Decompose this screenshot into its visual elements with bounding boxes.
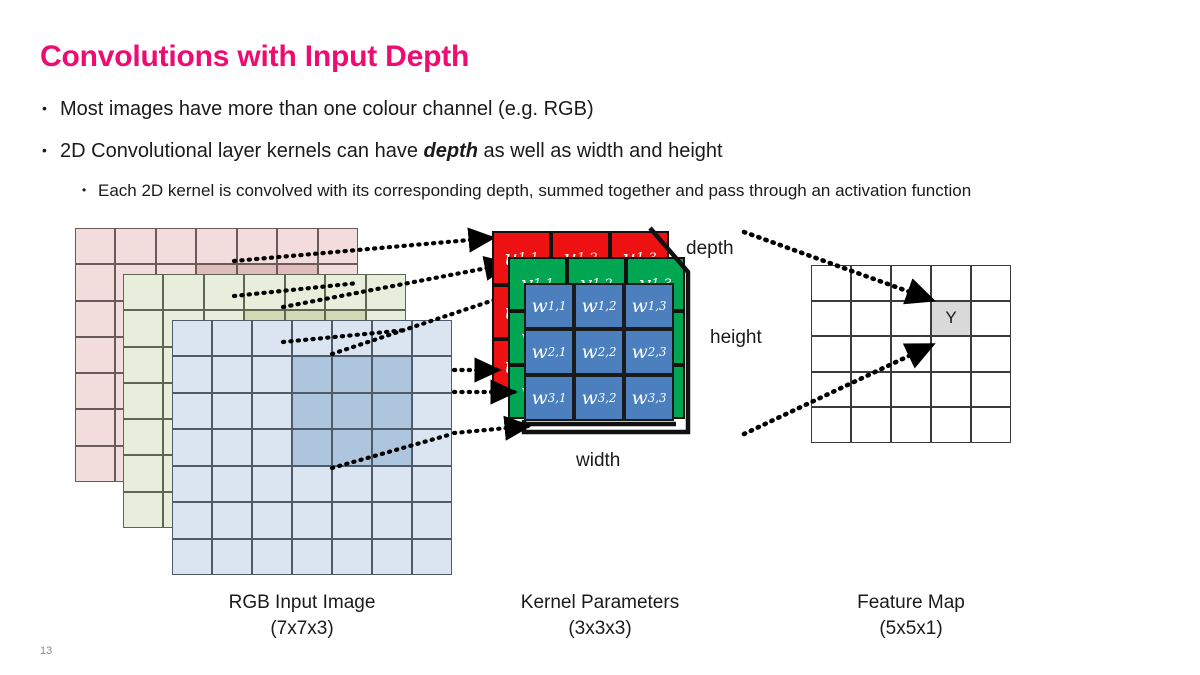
input-cell — [412, 393, 452, 429]
input-cell — [372, 466, 412, 502]
input-cell — [212, 320, 252, 356]
kernel-cell-w-2-1: w2,1 — [524, 329, 574, 375]
input-cell — [212, 466, 252, 502]
feature-map-cell — [811, 336, 851, 372]
input-cell — [212, 356, 252, 392]
input-cell — [252, 356, 292, 392]
input-cell — [332, 539, 372, 575]
feature-map-cell — [931, 407, 971, 443]
input-cell — [172, 502, 212, 538]
input-cell — [212, 502, 252, 538]
input-cell-highlighted — [292, 393, 332, 429]
kernel-cell-w-1-3: w1,3 — [624, 283, 674, 329]
bullet-item-1: Most images have more than one colour ch… — [38, 96, 1168, 122]
feature-map-cell — [931, 372, 971, 408]
input-cell — [366, 274, 406, 310]
feature-map-cell — [971, 407, 1011, 443]
input-cell — [123, 419, 163, 455]
feature-map-cell — [971, 336, 1011, 372]
feature-map-cell — [811, 407, 851, 443]
input-cell — [412, 502, 452, 538]
feature-map-cell — [931, 265, 971, 301]
caption-fmap-line2: (5x5x1) — [791, 616, 1031, 642]
input-cell — [75, 264, 115, 300]
input-cell — [172, 429, 212, 465]
input-cell — [237, 228, 277, 264]
feature-map-cell — [971, 301, 1011, 337]
input-cell — [212, 539, 252, 575]
input-cell — [75, 337, 115, 373]
input-cell — [75, 228, 115, 264]
feature-map-cell — [971, 372, 1011, 408]
input-cell-highlighted — [372, 429, 412, 465]
input-cell — [172, 356, 212, 392]
bullet-text-1: Most images have more than one colour ch… — [60, 98, 594, 120]
input-cell-highlighted — [372, 393, 412, 429]
bullet-list: Most images have more than one colour ch… — [38, 96, 1168, 202]
input-cell — [252, 466, 292, 502]
input-cell — [212, 429, 252, 465]
bullet-emphasis-depth: depth — [424, 140, 478, 162]
input-cell — [172, 466, 212, 502]
input-cell — [123, 455, 163, 491]
input-cell — [252, 502, 292, 538]
input-cell — [196, 228, 236, 264]
input-plane-blue — [172, 320, 452, 575]
feature-map-cell — [851, 265, 891, 301]
input-cell — [412, 356, 452, 392]
input-cell — [285, 274, 325, 310]
input-cell — [292, 320, 332, 356]
input-cell — [172, 393, 212, 429]
feature-map-cell — [931, 336, 971, 372]
input-cell — [318, 228, 358, 264]
slide-canvas: Convolutions with Input Depth Most image… — [0, 0, 1200, 675]
caption-fmap-line1: Feature Map — [791, 590, 1031, 616]
kernel-cell-w-3-2: w3,2 — [574, 375, 624, 421]
input-cell — [75, 409, 115, 445]
bullet-item-3: Each 2D kernel is convolved with its cor… — [38, 180, 1168, 202]
label-depth: depth — [686, 238, 734, 260]
input-cell — [75, 446, 115, 482]
input-cell — [252, 393, 292, 429]
kernel-cell-w-2-2: w2,2 — [574, 329, 624, 375]
input-cell-highlighted — [332, 393, 372, 429]
input-cell — [252, 429, 292, 465]
input-cell — [372, 502, 412, 538]
input-cell — [412, 466, 452, 502]
feature-map-cell — [891, 265, 931, 301]
kernel-cell-w-2-3: w2,3 — [624, 329, 674, 375]
input-cell — [332, 502, 372, 538]
caption-kernel-line2: (3x3x3) — [480, 616, 720, 642]
input-cell — [123, 383, 163, 419]
caption-input-line1: RGB Input Image — [182, 590, 422, 616]
caption-kernel-line1: Kernel Parameters — [480, 590, 720, 616]
feature-map-cell — [851, 407, 891, 443]
input-cell-highlighted — [292, 356, 332, 392]
input-cell-highlighted — [332, 356, 372, 392]
bullet-text-2-after: as well as width and height — [478, 140, 723, 162]
feature-map-cell — [811, 372, 851, 408]
feature-map-cell — [851, 301, 891, 337]
feature-map-cell — [971, 265, 1011, 301]
label-width: width — [576, 450, 620, 472]
input-cell — [163, 274, 203, 310]
feature-map-cell — [811, 265, 851, 301]
input-cell — [156, 228, 196, 264]
input-cell — [252, 320, 292, 356]
kernel-layer-w: w1,1w1,2w1,3w2,1w2,2w2,3w3,1w3,2w3,3 — [524, 283, 674, 421]
feature-map-cell — [851, 336, 891, 372]
label-height: height — [710, 327, 762, 349]
feature-map-cell — [811, 301, 851, 337]
caption-input-image: RGB Input Image (7x7x3) — [182, 590, 422, 642]
input-cell — [204, 274, 244, 310]
input-cell — [277, 228, 317, 264]
input-cell — [292, 502, 332, 538]
input-cell — [75, 373, 115, 409]
input-cell — [325, 274, 365, 310]
bullet-text-2-before: 2D Convolutional layer kernels can have — [60, 140, 424, 162]
caption-input-line2: (7x7x3) — [182, 616, 422, 642]
input-cell — [75, 301, 115, 337]
caption-kernel: Kernel Parameters (3x3x3) — [480, 590, 720, 642]
input-cell — [292, 466, 332, 502]
input-cell-highlighted — [332, 429, 372, 465]
caption-feature-map: Feature Map (5x5x1) — [791, 590, 1031, 642]
input-cell — [123, 274, 163, 310]
feature-map-cell — [891, 301, 931, 337]
input-cell — [212, 393, 252, 429]
kernel-cell-w-1-1: w1,1 — [524, 283, 574, 329]
bullet-item-2: 2D Convolutional layer kernels can have … — [38, 138, 1168, 164]
input-cell — [292, 539, 332, 575]
feature-map-cell — [851, 372, 891, 408]
input-cell — [412, 539, 452, 575]
input-cell — [332, 320, 372, 356]
input-cell — [172, 539, 212, 575]
input-cell — [123, 347, 163, 383]
input-cell — [252, 539, 292, 575]
page-title: Convolutions with Input Depth — [40, 40, 469, 74]
input-cell — [172, 320, 212, 356]
input-cell — [372, 320, 412, 356]
input-cell — [332, 466, 372, 502]
input-cell-highlighted — [372, 356, 412, 392]
input-cell — [123, 492, 163, 528]
feature-map-cell — [891, 407, 931, 443]
input-cell — [412, 429, 452, 465]
kernel-cell-w-1-2: w1,2 — [574, 283, 624, 329]
input-cell — [115, 228, 155, 264]
input-cell — [244, 274, 284, 310]
bullet-text-3: Each 2D kernel is convolved with its cor… — [98, 181, 971, 200]
feature-map-cell — [891, 372, 931, 408]
arrow-to-kernel-w — [454, 426, 528, 433]
input-cell — [372, 539, 412, 575]
input-cell — [412, 320, 452, 356]
kernel-cell-w-3-1: w3,1 — [524, 375, 574, 421]
feature-map-output-cell: Y — [931, 301, 971, 337]
input-cell-highlighted — [292, 429, 332, 465]
input-cell — [123, 310, 163, 346]
feature-map-grid: Y — [811, 265, 1011, 443]
kernel-cell-w-3-3: w3,3 — [624, 375, 674, 421]
feature-map-cell — [891, 336, 931, 372]
slide-number: 13 — [40, 645, 52, 657]
